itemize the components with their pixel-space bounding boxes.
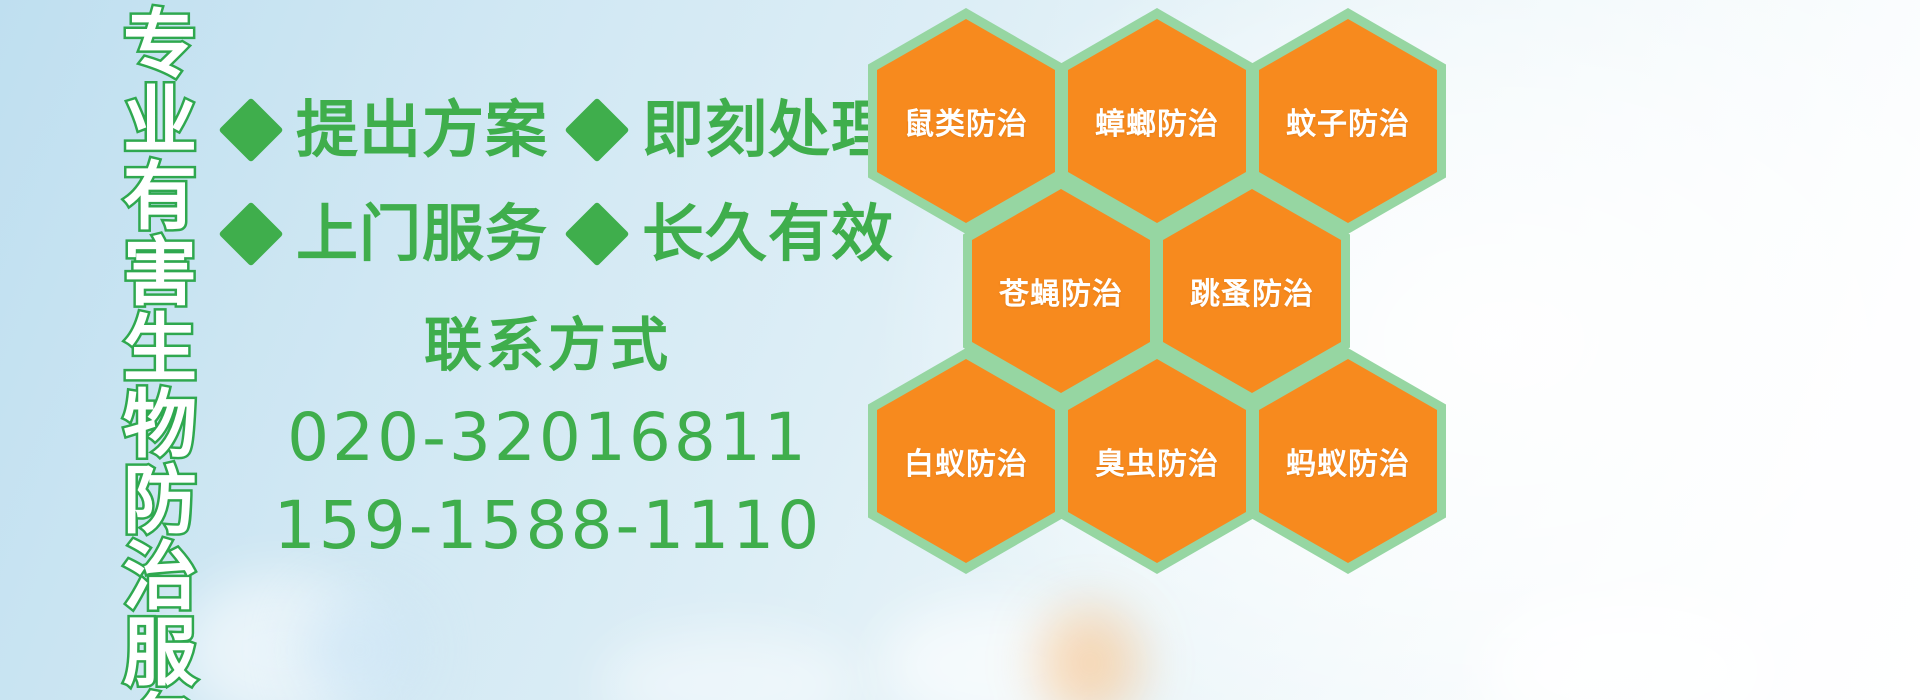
- vertical-headline-char: 生: [123, 312, 197, 386]
- vertical-headline-char: 服: [123, 616, 197, 690]
- feature-item-long-lasting-effect: 长久有效: [574, 203, 894, 265]
- diamond-bullet-icon: [564, 201, 629, 266]
- hex-inner-fill: 蟑螂防治: [1068, 19, 1246, 223]
- feature-item-immediate-handling: 即刻处理: [574, 99, 894, 161]
- background-bokeh-blob: [600, 630, 860, 700]
- vertical-headline-char: 业: [123, 84, 197, 158]
- contact-block: 联系方式 020-32016811 159-1588-1110: [228, 310, 868, 570]
- hex-inner-fill: 跳蚤防治: [1163, 189, 1341, 393]
- vertical-headline: 专 业 有 害 生 物 防 治 服 务: [108, 8, 212, 698]
- service-honeycomb-grid: 鼠类防治 蟑螂防治 蚊子防治 苍蝇防治 跳蚤防治 白蚁防治: [858, 0, 1458, 560]
- hex-inner-fill: 苍蝇防治: [972, 189, 1150, 393]
- hex-inner-fill: 臭虫防治: [1068, 359, 1246, 563]
- background-bokeh-blob: [1480, 590, 1780, 700]
- hex-label: 蚊子防治: [1286, 99, 1410, 143]
- phone-number-landline[interactable]: 020-32016811: [228, 394, 868, 482]
- diamond-bullet-icon: [564, 97, 629, 162]
- vertical-headline-char: 治: [123, 540, 197, 614]
- diamond-bullet-icon: [218, 201, 283, 266]
- feature-row: 提出方案 即刻处理: [228, 78, 868, 182]
- hex-label: 跳蚤防治: [1190, 269, 1314, 313]
- hex-label: 蟑螂防治: [1095, 99, 1219, 143]
- feature-label: 即刻处理: [642, 99, 894, 161]
- hex-label: 白蚁防治: [904, 439, 1028, 483]
- vertical-headline-char: 防: [123, 464, 197, 538]
- feature-label: 提出方案: [296, 99, 548, 161]
- hex-label: 鼠类防治: [904, 99, 1028, 143]
- feature-item-propose-plan: 提出方案: [228, 99, 548, 161]
- hex-inner-fill: 蚂蚁防治: [1259, 359, 1437, 563]
- feature-list: 提出方案 即刻处理 上门服务 长久有效: [228, 78, 868, 286]
- vertical-headline-char: 专: [123, 8, 197, 82]
- contact-heading: 联系方式: [228, 310, 868, 380]
- feature-row: 上门服务 长久有效: [228, 182, 868, 286]
- promo-banner: 专 业 有 害 生 物 防 治 服 务 提出方案 即刻处理 上门服务: [0, 0, 1920, 700]
- feature-item-door-to-door-service: 上门服务: [228, 203, 548, 265]
- background-bokeh-blob: [1040, 608, 1140, 700]
- hex-label: 臭虫防治: [1095, 439, 1219, 483]
- background-bokeh-blob: [300, 595, 420, 700]
- vertical-headline-char: 有: [123, 160, 197, 234]
- feature-label: 长久有效: [642, 203, 894, 265]
- diamond-bullet-icon: [218, 97, 283, 162]
- background-bokeh-blob: [880, 600, 1120, 700]
- hex-label: 苍蝇防治: [999, 269, 1123, 313]
- hex-inner-fill: 白蚁防治: [877, 359, 1055, 563]
- vertical-headline-char: 害: [123, 236, 197, 310]
- vertical-headline-char: 物: [123, 388, 197, 462]
- feature-label: 上门服务: [296, 203, 548, 265]
- hex-inner-fill: 蚊子防治: [1259, 19, 1437, 223]
- phone-number-mobile[interactable]: 159-1588-1110: [228, 482, 868, 570]
- hex-label: 蚂蚁防治: [1286, 439, 1410, 483]
- hex-inner-fill: 鼠类防治: [877, 19, 1055, 223]
- vertical-headline-char: 务: [123, 692, 197, 700]
